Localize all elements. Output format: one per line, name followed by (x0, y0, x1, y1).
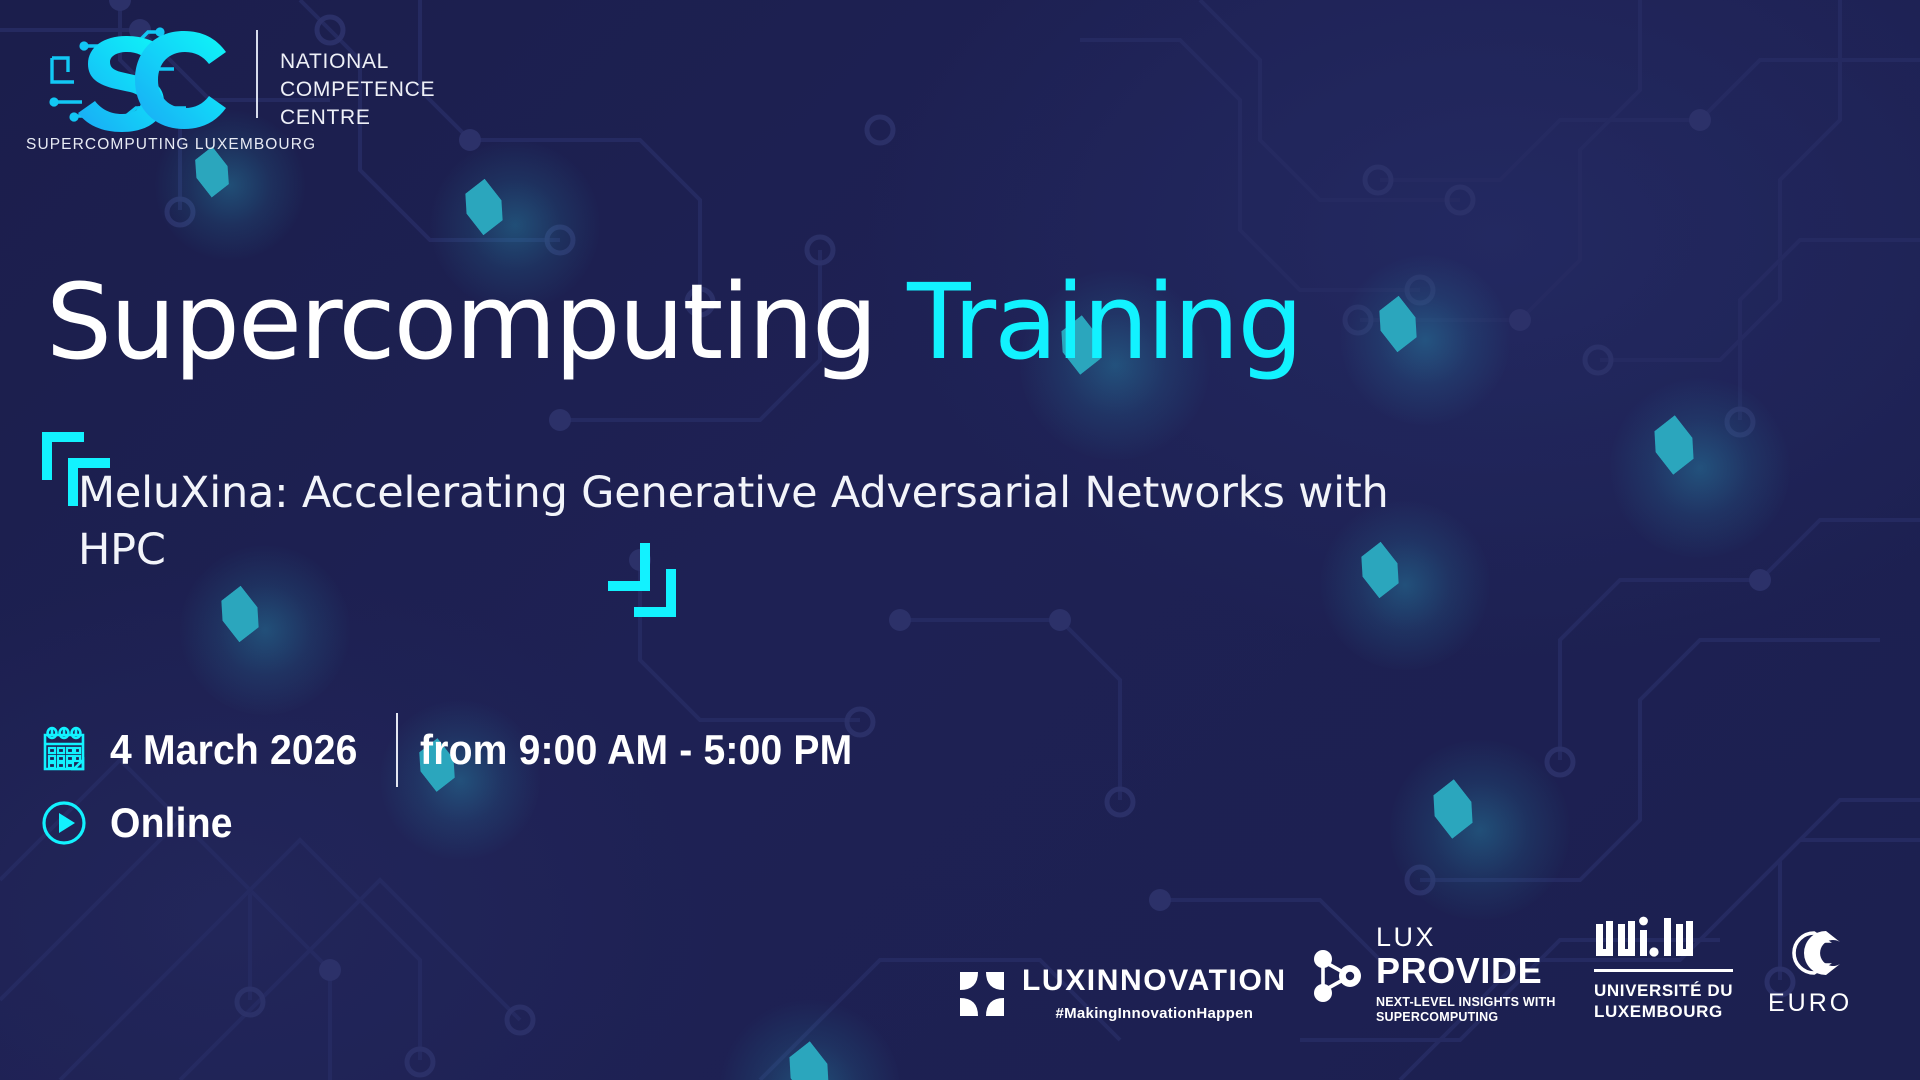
corner-bracket-bottom-right-icon (608, 555, 688, 635)
brand-tagline: SUPERCOMPUTING LUXEMBOURG (26, 136, 316, 154)
page-subtitle: MeluXina: Accelerating Generative Advers… (78, 465, 1408, 579)
event-date: 4 March 2026 (110, 726, 358, 774)
page-title: Supercomputing Training (46, 270, 1302, 374)
partner-logo-uni-lu: UNIVERSITÉ DU LUXEMBOURG (1594, 916, 1733, 1023)
uni-lu-wordmark-icon (1594, 916, 1733, 964)
org-line-1: NATIONAL (280, 48, 435, 76)
partner-logos: LUXINNOVATION #MakingInnovationHappen LU… (0, 918, 1920, 1048)
luxinnovation-petal-icon (958, 970, 1006, 1018)
uni-lu-name-line-2: LUXEMBOURG (1594, 1001, 1733, 1022)
org-line-2: COMPETENCE (280, 76, 435, 104)
event-time: from 9:00 AM - 5:00 PM (420, 726, 852, 774)
partner-logo-luxprovide: LUX PROVIDE NEXT-LEVEL INSIGHTS WITH SUP… (1310, 925, 1556, 1026)
logo-divider (256, 30, 258, 118)
org-line-3: CENTRE (280, 104, 435, 132)
detail-divider (396, 713, 398, 787)
sc-circuit-logo-icon (38, 22, 238, 152)
event-location: Online (110, 799, 233, 847)
partner-logo-eurocc: EURO (1768, 925, 1852, 1016)
play-circle-icon (40, 799, 88, 847)
eurocc-double-c-icon (1768, 925, 1852, 981)
uni-lu-name-line-1: UNIVERSITÉ DU (1594, 980, 1733, 1001)
luxprovide-name-bottom: PROVIDE (1376, 953, 1556, 989)
event-location-row: Online (40, 792, 885, 854)
luxprovide-name-top: LUX (1376, 925, 1556, 951)
luxinnovation-tagline: #MakingInnovationHappen (1022, 1005, 1287, 1022)
event-date-row: 4 March 2026 from 9:00 AM - 5:00 PM (40, 718, 885, 782)
title-part-2: Training (907, 261, 1301, 383)
title-part-1: Supercomputing (46, 261, 876, 383)
eurocc-name: EURO (1768, 991, 1852, 1016)
partner-logo-luxinnovation: LUXINNOVATION #MakingInnovationHappen (958, 966, 1287, 1022)
luxprovide-tagline-line-2: SUPERCOMPUTING (1376, 1010, 1556, 1026)
luxinnovation-name: LUXINNOVATION (1022, 966, 1287, 996)
luxprovide-node-icon (1310, 947, 1364, 1005)
luxprovide-tagline-line-1: NEXT-LEVEL INSIGHTS WITH (1376, 995, 1556, 1011)
calendar-icon (40, 725, 88, 775)
brand-logo: NATIONAL COMPETENCE CENTRE (38, 22, 435, 152)
event-details: 4 March 2026 from 9:00 AM - 5:00 PM Onli… (40, 718, 885, 854)
organisation-name: NATIONAL COMPETENCE CENTRE (280, 22, 435, 132)
uni-lu-rule (1594, 969, 1733, 972)
